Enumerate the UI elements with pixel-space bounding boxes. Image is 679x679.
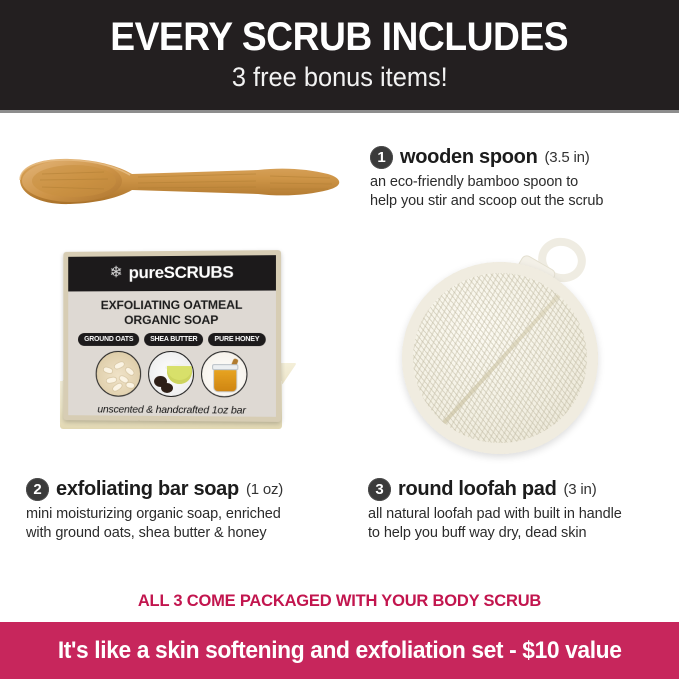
item-3-description: all natural loofah pad with built in han…: [368, 505, 678, 544]
footer-banner: It's like a skin softening and exfoliati…: [0, 622, 679, 679]
soap-label-inner: ❄ pureSCRUBS EXFOLIATING OATMEAL ORGANIC…: [68, 255, 276, 417]
item-1-desc-line-1: an eco-friendly bamboo spoon to: [370, 173, 670, 192]
header-title: EVERY SCRUB INCLUDES: [111, 17, 569, 57]
ingredient-pill-honey: PURE HONEY: [208, 333, 265, 346]
item-2-desc-line-2: with ground oats, shea butter & honey: [26, 524, 346, 543]
pure-honey-photo: [201, 351, 247, 397]
header-subtitle: 3 free bonus items!: [232, 63, 448, 93]
soap-label: ❄ pureSCRUBS EXFOLIATING OATMEAL ORGANIC…: [63, 250, 281, 422]
brand-bar: ❄ pureSCRUBS: [68, 255, 276, 291]
item-1-text-block: 1 wooden spoon (3.5 in) an eco-friendly …: [370, 146, 670, 212]
item-2-title: exfoliating bar soap: [56, 478, 239, 501]
item-2-description: mini moisturizing organic soap, enriched…: [26, 505, 346, 544]
item-2-size: (1 oz): [246, 481, 283, 498]
ingredient-pill-shea: SHEA BUTTER: [144, 333, 203, 346]
bar-soap-photo: ❄ pureSCRUBS EXFOLIATING OATMEAL ORGANIC…: [48, 245, 298, 460]
item-3-text-block: 3 round loofah pad (3 in) all natural lo…: [368, 478, 678, 544]
item-3-heading: 3 round loofah pad (3 in): [368, 478, 678, 501]
number-badge-1: 1: [370, 146, 393, 169]
ingredient-photo-row: [68, 346, 276, 398]
item-1-description: an eco-friendly bamboo spoon to help you…: [370, 173, 670, 212]
footer-banner-text: It's like a skin softening and exfoliati…: [58, 637, 622, 665]
loofah-pad-photo: [398, 238, 638, 463]
loofah-rim: [402, 262, 598, 454]
soap-label-footer: unscented & handcrafted 1oz bar: [68, 396, 276, 416]
ground-oats-photo: [96, 351, 141, 397]
item-1-size: (3.5 in): [545, 149, 590, 166]
brand-mandala-icon: ❄: [109, 266, 122, 282]
item-3-desc-line-2: to help you buff way dry, dead skin: [368, 524, 678, 543]
item-2-text-block: 2 exfoliating bar soap (1 oz) mini moist…: [26, 478, 346, 544]
infographic-page: EVERY SCRUB INCLUDES 3 free bonus items!: [0, 0, 679, 679]
loofah-body: [402, 262, 598, 454]
brand-name: pureSCRUBS: [129, 263, 234, 284]
item-3-desc-line-1: all natural loofah pad with built in han…: [368, 505, 678, 524]
item-1-desc-line-2: help you stir and scoop out the scrub: [370, 192, 670, 211]
shea-butter-photo: [148, 351, 194, 397]
header-divider: [0, 110, 679, 113]
item-1-title: wooden spoon: [400, 146, 538, 169]
ingredient-pill-oats: GROUND OATS: [78, 333, 139, 346]
item-2-desc-line-1: mini moisturizing organic soap, enriched: [26, 505, 346, 524]
item-1-heading: 1 wooden spoon (3.5 in): [370, 146, 670, 169]
soap-headline-line-1: EXFOLIATING OATMEAL: [72, 297, 272, 313]
bamboo-spoon-photo: [8, 150, 348, 210]
item-2-heading: 2 exfoliating bar soap (1 oz): [26, 478, 346, 501]
item-3-title: round loofah pad: [398, 478, 557, 501]
soap-headline-line-2: ORGANIC SOAP: [72, 313, 272, 329]
number-badge-3: 3: [368, 478, 391, 501]
ingredient-pill-row: GROUND OATS SHEA BUTTER PURE HONEY: [68, 332, 276, 346]
footer-tagline: ALL 3 COME PACKAGED WITH YOUR BODY SCRUB: [10, 586, 669, 616]
header-banner: EVERY SCRUB INCLUDES 3 free bonus items!: [0, 0, 679, 110]
item-3-size: (3 in): [564, 481, 597, 498]
spoon-illustration: [8, 150, 348, 210]
soap-label-headline: EXFOLIATING OATMEAL ORGANIC SOAP: [68, 290, 276, 332]
number-badge-2: 2: [26, 478, 49, 501]
